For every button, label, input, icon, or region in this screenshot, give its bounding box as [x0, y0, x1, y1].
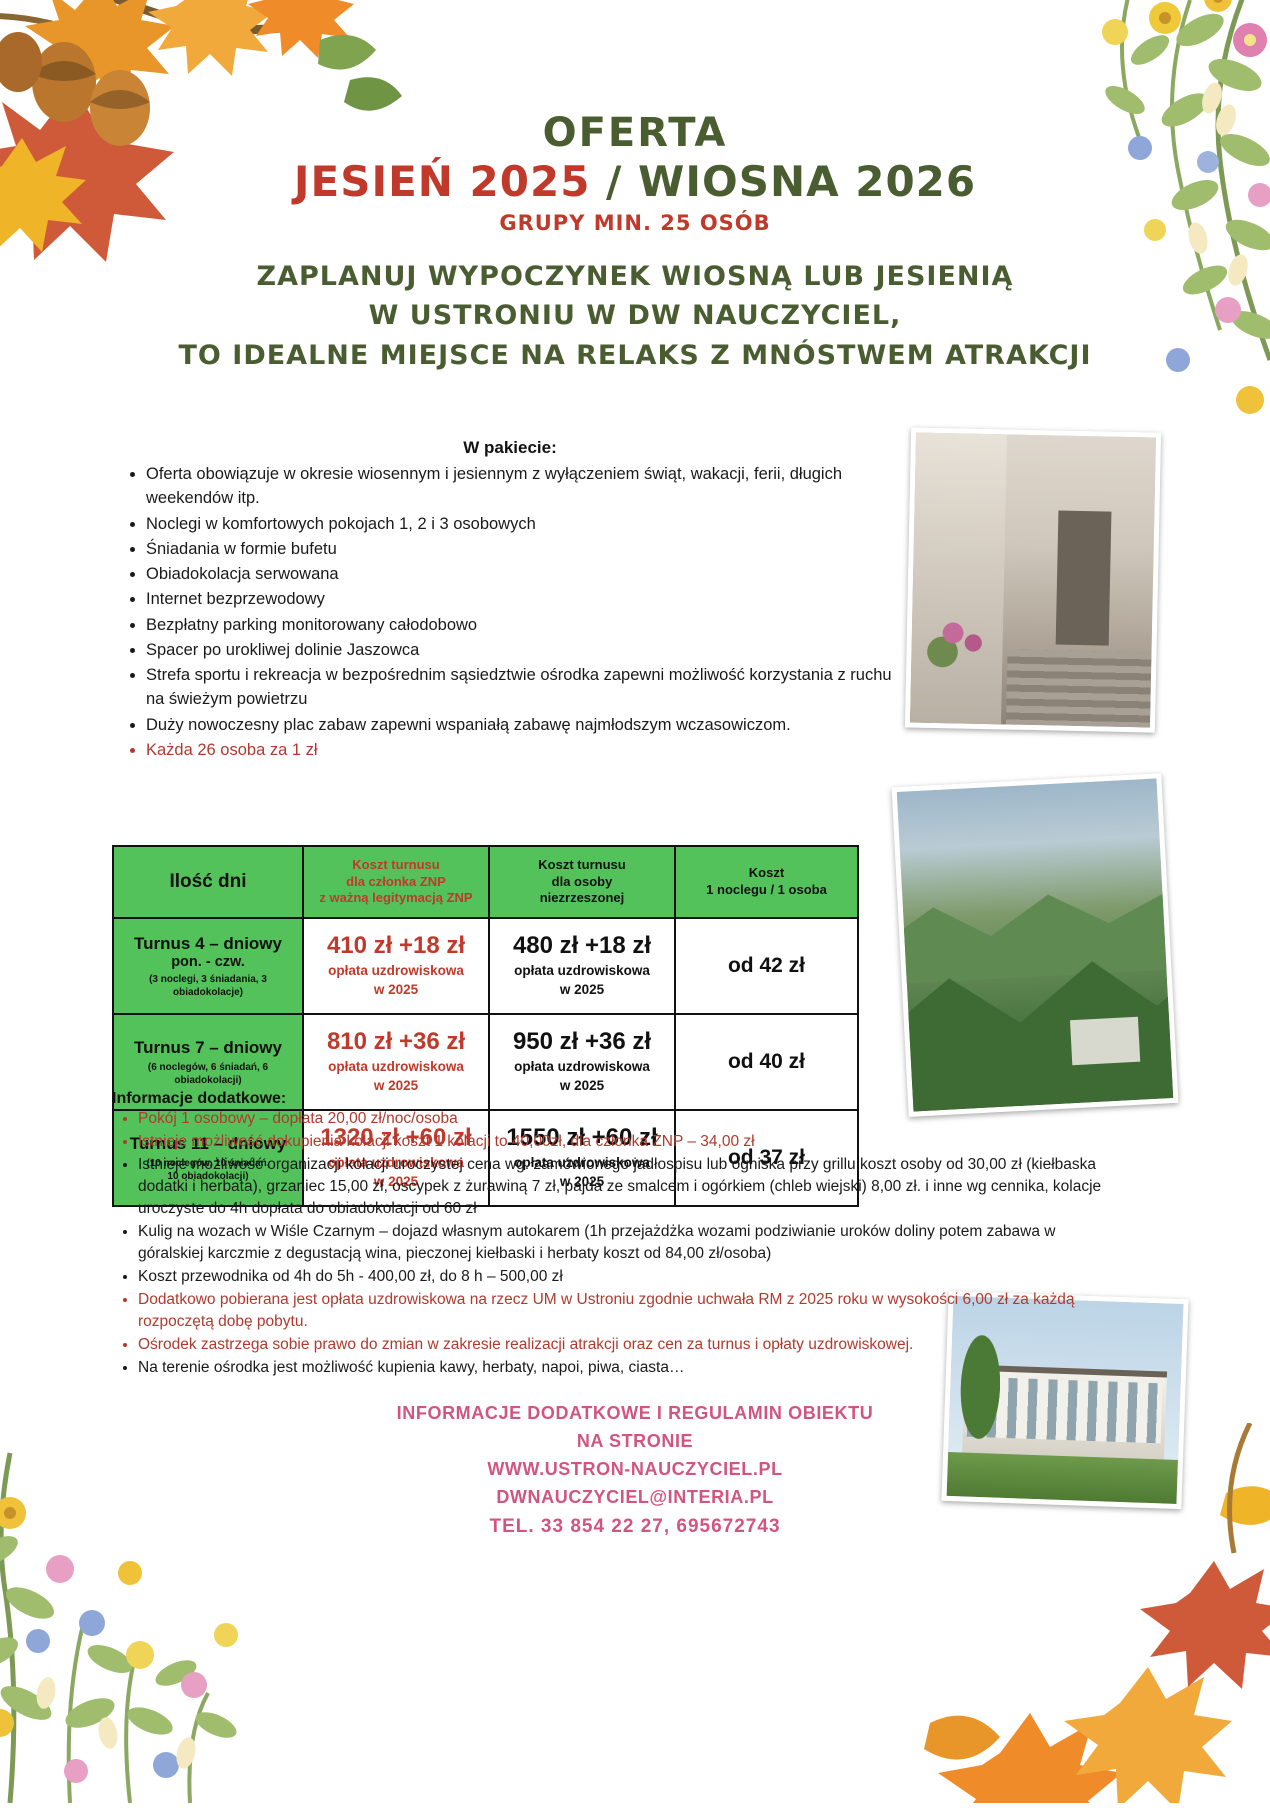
package-item: Obiadokolacja serwowana: [146, 562, 908, 586]
poster-header: OFERTA JESIEŃ 2025 / WIOSNA 2026 GRUPY M…: [0, 112, 1270, 375]
znp-fee-note-1: opłata uzdrowiskowa: [307, 962, 485, 980]
footer-phone: TEL. 33 854 22 27, 695672743: [0, 1512, 1270, 1542]
duration-name: Turnus 7 – dniowy: [117, 1037, 299, 1058]
cell-nonmember-price: 950 zł +36 złopłata uzdrowiskowaw 2025: [489, 1014, 675, 1110]
additional-info-list: Pokój 1 osobowy – dopłata 20,00 zł/noc/o…: [112, 1108, 1122, 1380]
header-night-line1: Koszt: [679, 865, 854, 882]
duration-details: (6 noclegów, 6 śniadań, 6 obiadokolacji): [117, 1061, 299, 1087]
header-znp-line2: dla członka ZNP: [307, 874, 485, 891]
package-item: Internet bezprzewodowy: [146, 587, 908, 611]
package-item: Noclegi w komfortowych pokojach 1, 2 i 3…: [146, 512, 908, 536]
header-days: Ilość dni: [113, 846, 303, 918]
header-nonmember-cost: Koszt turnusu dla osoby niezrzeszonej: [489, 846, 675, 918]
additional-info-item: Istnieje możliwość dokupienia kolacji ko…: [138, 1131, 1122, 1153]
header-night-cost: Koszt 1 noclegu / 1 osoba: [675, 846, 858, 918]
cell-duration: Turnus 4 – dniowypon. - czw.(3 noclegi, …: [113, 918, 303, 1014]
header-nz-line3: niezrzeszonej: [493, 890, 671, 907]
package-item: Każda 26 osoba za 1 zł: [146, 738, 908, 762]
footer-contact: INFORMACJE DODATKOWE I REGULAMIN OBIEKTU…: [0, 1400, 1270, 1542]
package-item: Bezpłatny parking monitorowany całodobow…: [146, 613, 908, 637]
season-separator: /: [590, 157, 638, 206]
header-nz-line2: dla osoby: [493, 874, 671, 891]
nonmember-fee-note-1: opłata uzdrowiskowa: [493, 962, 671, 980]
additional-info-item: Istnieje możliwość organizacji kolacji u…: [138, 1154, 1122, 1220]
season-spring: WIOSNA 2026: [638, 157, 976, 206]
znp-fee-note-1: opłata uzdrowiskowa: [307, 1058, 485, 1076]
additional-info-item: Kulig na wozach w Wiśle Czarnym – dojazd…: [138, 1221, 1122, 1265]
cell-znp-price: 410 zł +18 złopłata uzdrowiskowaw 2025: [303, 918, 489, 1014]
nonmember-price: 480 zł +18 zł: [493, 933, 671, 960]
cell-znp-price: 810 zł +36 złopłata uzdrowiskowaw 2025: [303, 1014, 489, 1110]
additional-info-item: Dodatkowo pobierana jest opłata uzdrowis…: [138, 1289, 1122, 1333]
slogan-line-2: W USTRONIU W DW NAUCZYCIEL,: [0, 296, 1270, 335]
cell-nonmember-price: 480 zł +18 złopłata uzdrowiskowaw 2025: [489, 918, 675, 1014]
cell-night-price: od 40 zł: [675, 1014, 858, 1110]
duration-days: pon. - czw.: [117, 954, 299, 970]
package-title: W pakiecie:: [120, 438, 900, 458]
nonmember-fee-note-1: opłata uzdrowiskowa: [493, 1058, 671, 1076]
cell-night-price: od 42 zł: [675, 918, 858, 1014]
page-title: OFERTA: [0, 112, 1270, 154]
photo-hotel-lobby: [905, 427, 1161, 732]
nonmember-fee-note-2: w 2025: [493, 981, 671, 999]
slogan-line-3: TO IDEALNE MIEJSCE NA RELAKS Z MNÓSTWEM …: [0, 336, 1270, 375]
header-znp-line3: z ważną legitymacją ZNP: [307, 890, 485, 907]
night-price: od 40 zł: [679, 1050, 854, 1074]
package-item: Strefa sportu i rekreacja w bezpośrednim…: [146, 663, 908, 712]
additional-info-item: Pokój 1 osobowy – dopłata 20,00 zł/noc/o…: [138, 1108, 1122, 1130]
znp-price: 410 zł +18 zł: [307, 933, 485, 960]
header-znp-cost: Koszt turnusu dla członka ZNP z ważną le…: [303, 846, 489, 918]
footer-email-link[interactable]: DWNAUCZYCIEL@INTERIA.PL: [0, 1484, 1270, 1512]
footer-line-1: INFORMACJE DODATKOWE I REGULAMIN OBIEKTU: [0, 1400, 1270, 1428]
additional-info-item: Na terenie ośrodka jest możliwość kupien…: [138, 1357, 1122, 1379]
photo-mountain-view: [892, 773, 1179, 1117]
package-item: Śniadania w formie bufetu: [146, 537, 908, 561]
package-item: Oferta obowiązuje w okresie wiosennym i …: [146, 462, 908, 511]
package-item: Spacer po urokliwej dolinie Jaszowca: [146, 638, 908, 662]
additional-info-item: Koszt przewodnika od 4h do 5h - 400,00 z…: [138, 1266, 1122, 1288]
duration-name: Turnus 4 – dniowy: [117, 933, 299, 954]
slogan-line-1: ZAPLANUJ WYPOCZYNEK WIOSNĄ LUB JESIENIĄ: [0, 257, 1270, 296]
znp-fee-note-2: w 2025: [307, 1077, 485, 1095]
night-price: od 42 zł: [679, 954, 854, 978]
additional-info-title: Informacje dodatkowe:: [112, 1090, 286, 1108]
header-night-line2: 1 noclegu / 1 osoba: [679, 882, 854, 899]
package-list: Oferta obowiązuje w okresie wiosennym i …: [118, 462, 908, 763]
znp-fee-note-2: w 2025: [307, 981, 485, 999]
table-row: Turnus 4 – dniowypon. - czw.(3 noclegi, …: [113, 918, 858, 1014]
header-nz-line1: Koszt turnusu: [493, 857, 671, 874]
season-autumn: JESIEŃ 2025: [294, 157, 591, 206]
package-item: Duży nowoczesny plac zabaw zapewni wspan…: [146, 713, 908, 737]
additional-info-item: Ośrodek zastrzega sobie prawo do zmian w…: [138, 1334, 1122, 1356]
nonmember-price: 950 zł +36 zł: [493, 1029, 671, 1056]
duration-details: (3 noclegi, 3 śniadania, 3 obiadokolacje…: [117, 973, 299, 999]
header-days-label: Ilość dni: [117, 871, 299, 893]
nonmember-fee-note-2: w 2025: [493, 1077, 671, 1095]
znp-price: 810 zł +36 zł: [307, 1029, 485, 1056]
footer-line-2: NA STRONIE: [0, 1428, 1270, 1456]
header-znp-line1: Koszt turnusu: [307, 857, 485, 874]
table-header-row: Ilość dni Koszt turnusu dla członka ZNP …: [113, 846, 858, 918]
footer-website-link[interactable]: WWW.USTRON-NAUCZYCIEL.PL: [0, 1456, 1270, 1484]
slogan: ZAPLANUJ WYPOCZYNEK WIOSNĄ LUB JESIENIĄ …: [0, 257, 1270, 374]
group-minimum-note: GRUPY MIN. 25 OSÓB: [0, 211, 1270, 235]
season-title: JESIEŃ 2025 / WIOSNA 2026: [0, 158, 1270, 206]
